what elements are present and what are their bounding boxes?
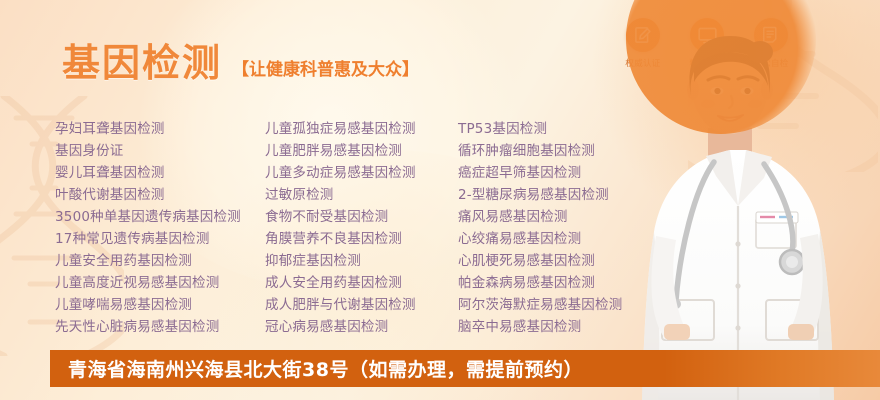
list-item[interactable]: 脑卒中易感基因检测 — [458, 316, 668, 338]
list-item[interactable]: 心肌梗死易感基因检测 — [458, 250, 668, 272]
list-item[interactable]: 成人肥胖与代谢基因检测 — [265, 294, 458, 316]
list-item[interactable]: 帕金森病易感基因检测 — [458, 272, 668, 294]
list-item[interactable]: 痛风易感基因检测 — [458, 206, 668, 228]
page-title-main: 基因检测 — [62, 44, 222, 82]
list-item[interactable]: 冠心病易感基因检测 — [265, 316, 458, 338]
test-column-3: TP53基因检测 循环肿瘤细胞基因检测 癌症超早筛基因检测 2-型糖尿病易感基因… — [458, 118, 668, 338]
page-title-subtitle: 【让健康科普惠及大众】 — [232, 62, 419, 82]
badge-circle — [754, 18, 788, 52]
list-item[interactable]: 17种常见遗传病基因检测 — [55, 228, 265, 250]
report-icon — [761, 25, 781, 45]
list-item[interactable]: 2-型糖尿病易感基因检测 — [458, 184, 668, 206]
genetic-testing-poster: 基因检测 【让健康科普惠及大众】 权威认证 精准分型 — [0, 0, 880, 400]
list-item[interactable]: 先天性心脏病易感基因检测 — [55, 316, 265, 338]
badge-label: 精准分型 — [689, 57, 724, 69]
list-item[interactable]: TP53基因检测 — [458, 118, 668, 140]
list-item[interactable]: 儿童安全用药基因检测 — [55, 250, 265, 272]
list-item[interactable]: 癌症超早筛基因检测 — [458, 162, 668, 184]
test-column-1: 孕妇耳聋基因检测 基因身份证 婴儿耳聋基因检测 叶酸代谢基因检测 3500种单基… — [55, 118, 265, 338]
badge-label: 轻松自检 — [753, 57, 788, 69]
list-item[interactable]: 儿童肥胖易感基因检测 — [265, 140, 458, 162]
test-column-2: 儿童孤独症易感基因检测 儿童肥胖易感基因检测 儿童多动症易感基因检测 过敏原检测… — [265, 118, 458, 338]
list-item[interactable]: 儿童多动症易感基因检测 — [265, 162, 458, 184]
list-item[interactable]: 角膜营养不良基因检测 — [265, 228, 458, 250]
list-item[interactable]: 儿童高度近视易感基因检测 — [55, 272, 265, 294]
edit-document-icon — [633, 25, 653, 45]
list-item[interactable]: 循环肿瘤细胞基因检测 — [458, 140, 668, 162]
list-item[interactable]: 心绞痛易感基因检测 — [458, 228, 668, 250]
list-item[interactable]: 成人安全用药基因检测 — [265, 272, 458, 294]
list-item[interactable]: 过敏原检测 — [265, 184, 458, 206]
badge-precise-typing[interactable]: 精准分型 — [684, 18, 730, 69]
page-title: 基因检测 【让健康科普惠及大众】 — [62, 44, 419, 82]
list-item[interactable]: 叶酸代谢基因检测 — [55, 184, 265, 206]
monitor-icon — [697, 25, 718, 46]
address-banner: 青海省海南州兴海县北大街38号（如需办理，需提前预约） — [50, 350, 664, 387]
list-item[interactable]: 孕妇耳聋基因检测 — [55, 118, 265, 140]
badge-authoritative-certification[interactable]: 权威认证 — [620, 18, 666, 69]
list-item[interactable]: 阿尔茨海默症易感基因检测 — [458, 294, 668, 316]
list-item[interactable]: 儿童孤独症易感基因检测 — [265, 118, 458, 140]
list-item[interactable]: 3500种单基因遗传病基因检测 — [55, 206, 265, 228]
feature-badge-group: 权威认证 精准分型 轻松自检 — [620, 18, 794, 69]
badge-circle — [690, 18, 724, 52]
test-item-columns: 孕妇耳聋基因检测 基因身份证 婴儿耳聋基因检测 叶酸代谢基因检测 3500种单基… — [55, 118, 668, 338]
list-item[interactable]: 基因身份证 — [55, 140, 265, 162]
list-item[interactable]: 食物不耐受基因检测 — [265, 206, 458, 228]
badge-label: 权威认证 — [625, 57, 660, 69]
list-item[interactable]: 抑郁症基因检测 — [265, 250, 458, 272]
badge-easy-self-check[interactable]: 轻松自检 — [748, 18, 794, 69]
address-banner-text: 青海省海南州兴海县北大街38号（如需办理，需提前预约） — [68, 355, 583, 382]
list-item[interactable]: 儿童哮喘易感基因检测 — [55, 294, 265, 316]
list-item[interactable]: 婴儿耳聋基因检测 — [55, 162, 265, 184]
address-banner-strip — [664, 350, 880, 387]
badge-circle — [626, 18, 660, 52]
